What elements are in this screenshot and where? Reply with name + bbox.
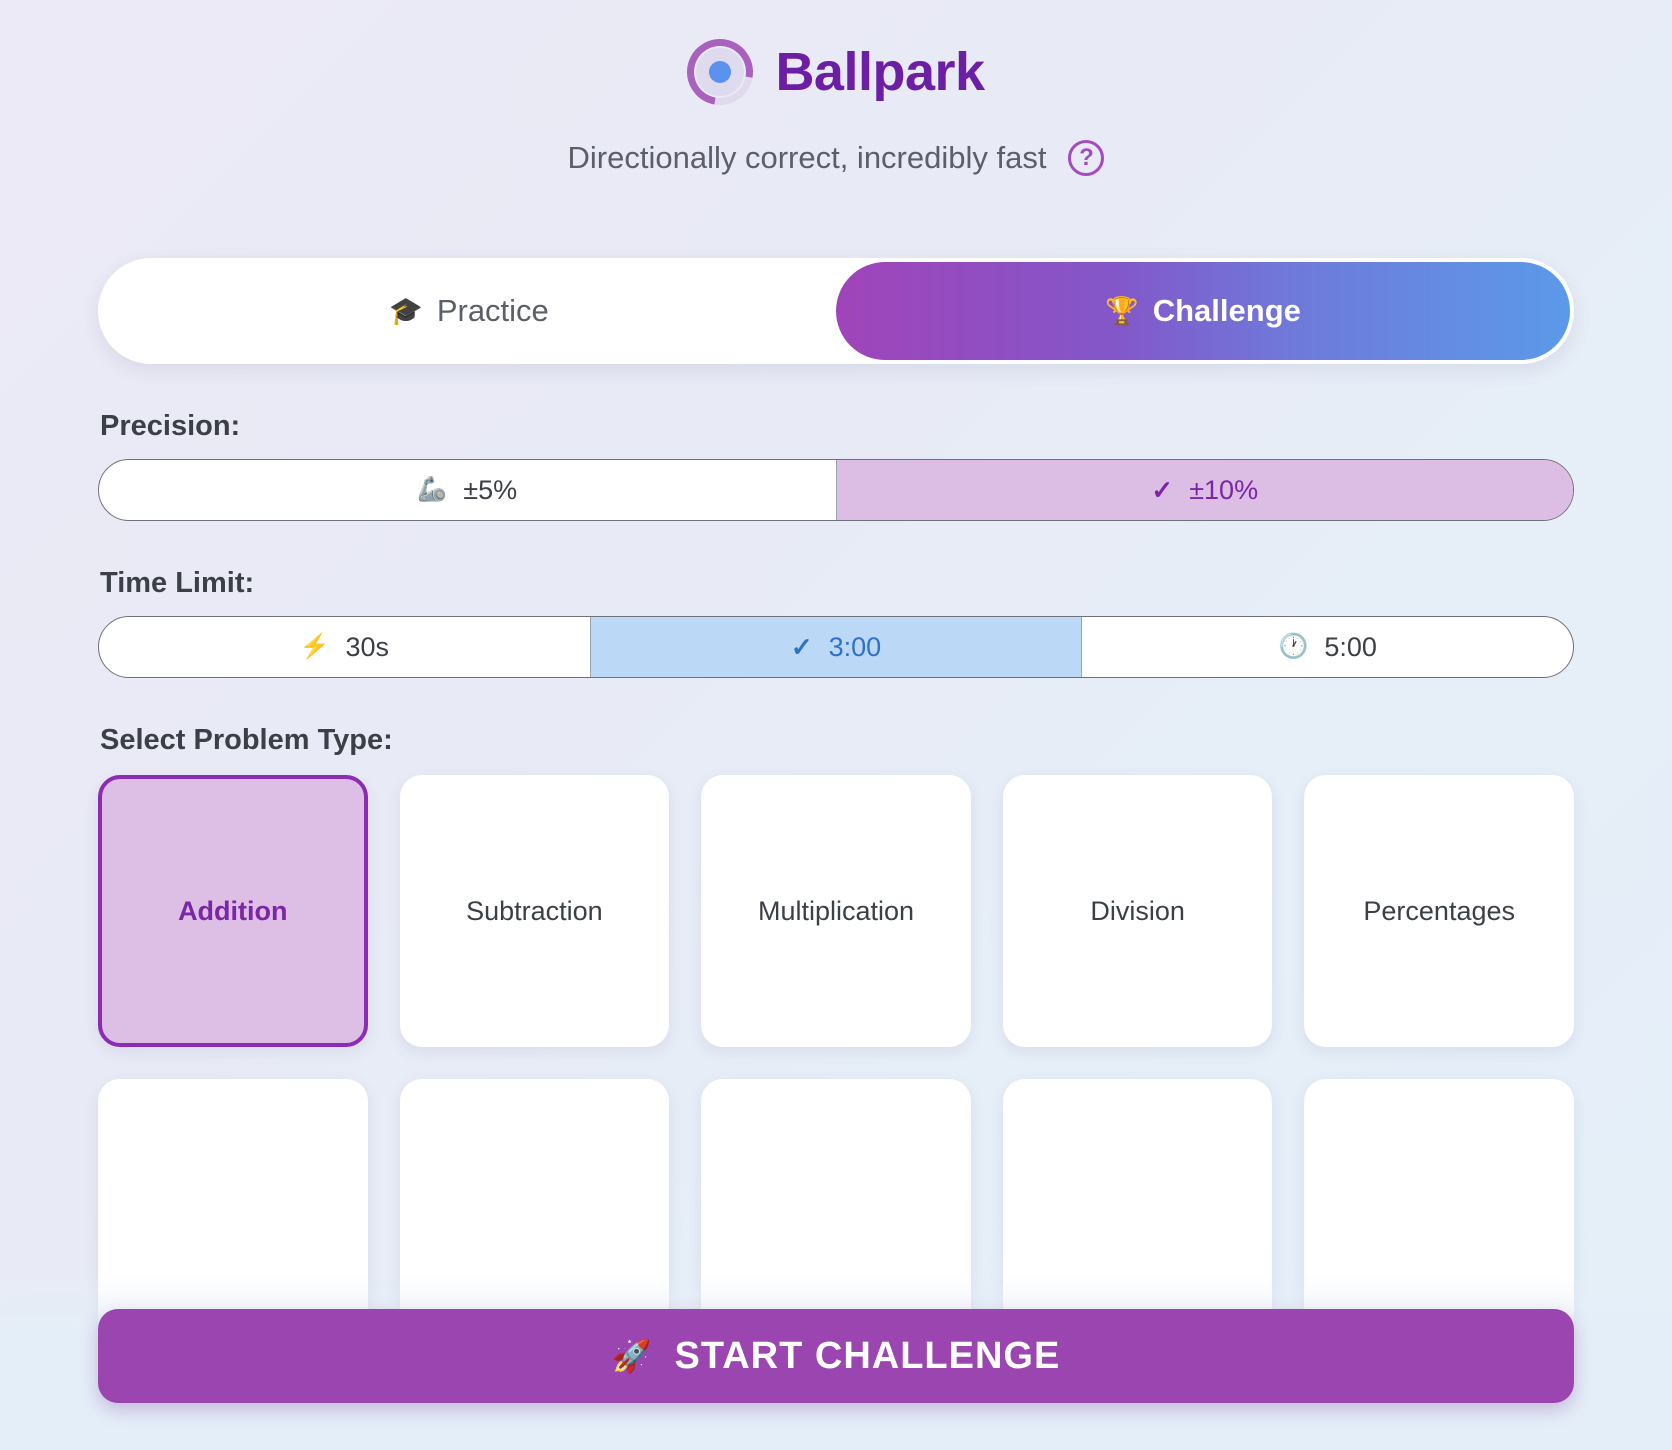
app-tagline: Directionally correct, incredibly fast — [568, 140, 1047, 176]
ballpark-target-icon — [687, 39, 753, 105]
problem-type-addition[interactable]: Addition — [98, 775, 368, 1047]
tab-practice[interactable]: 🎓 Practice — [102, 262, 836, 360]
clock-icon: 🕐 — [1278, 635, 1308, 659]
time-limit-option-30s[interactable]: ⚡ 30s — [99, 617, 591, 677]
app-header: Ballpark Directionally correct, incredib… — [98, 0, 1574, 176]
time-limit-option-3min-label: 3:00 — [829, 632, 882, 663]
start-challenge-button[interactable]: 🚀 START CHALLENGE — [98, 1309, 1574, 1403]
tagline-row: Directionally correct, incredibly fast ? — [98, 140, 1574, 176]
check-icon: ✓ — [1151, 475, 1173, 506]
time-limit-option-5min[interactable]: 🕐 5:00 — [1082, 617, 1573, 677]
time-limit-segmented-control: ⚡ 30s ✓ 3:00 🕐 5:00 — [98, 616, 1574, 678]
question-mark-circle-icon[interactable]: ? — [1068, 140, 1104, 176]
trophy-icon: 🏆 — [1105, 298, 1139, 325]
lightning-bolt-icon: ⚡ — [300, 635, 330, 659]
time-limit-option-5min-label: 5:00 — [1324, 632, 1377, 663]
page-title: Ballpark — [775, 45, 984, 99]
tab-challenge[interactable]: 🏆 Challenge — [836, 262, 1570, 360]
problem-type-grid: Addition Subtraction Multiplication Divi… — [98, 775, 1574, 1351]
problem-type-label: Select Problem Type: — [100, 724, 1574, 757]
problem-type-multiplication[interactable]: Multiplication — [701, 775, 971, 1047]
time-limit-label: Time Limit: — [100, 567, 1574, 600]
precision-option-10[interactable]: ✓ ±10% — [837, 460, 1574, 520]
start-challenge-label: START CHALLENGE — [675, 1335, 1061, 1378]
robot-arm-icon: 🦾 — [417, 478, 447, 502]
rocket-icon: 🚀 — [612, 1337, 653, 1375]
precision-option-5[interactable]: 🦾 ±5% — [99, 460, 837, 520]
problem-type-percentages[interactable]: Percentages — [1304, 775, 1574, 1047]
brand-row: Ballpark — [98, 26, 1574, 118]
mode-toggle: 🎓 Practice 🏆 Challenge — [98, 258, 1574, 364]
problem-type-division[interactable]: Division — [1003, 775, 1273, 1047]
precision-option-10-label: ±10% — [1189, 475, 1258, 506]
graduation-cap-icon: 🎓 — [389, 298, 423, 325]
ballpark-app: Ballpark Directionally correct, incredib… — [0, 0, 1672, 1450]
problem-type-subtraction[interactable]: Subtraction — [400, 775, 670, 1047]
precision-segmented-control: 🦾 ±5% ✓ ±10% — [98, 459, 1574, 521]
time-limit-option-30s-label: 30s — [346, 632, 390, 663]
precision-label: Precision: — [100, 410, 1574, 443]
precision-option-5-label: ±5% — [463, 475, 517, 506]
check-icon: ✓ — [791, 632, 813, 663]
tab-challenge-label: Challenge — [1153, 293, 1301, 329]
time-limit-option-3min[interactable]: ✓ 3:00 — [591, 617, 1083, 677]
tab-practice-label: Practice — [437, 293, 549, 329]
